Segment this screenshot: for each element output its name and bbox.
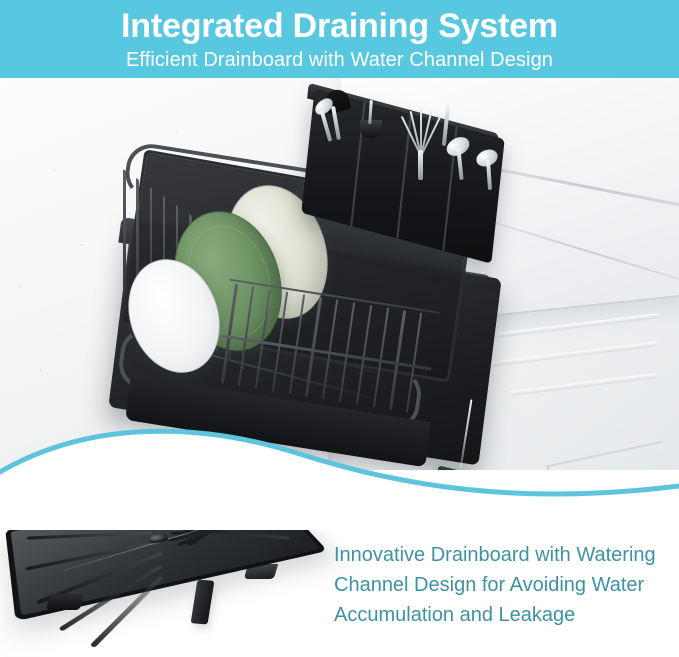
drainboard-product-shot bbox=[8, 458, 338, 643]
drainboard-foot bbox=[46, 594, 85, 610]
hero-photo bbox=[0, 78, 679, 495]
banner-subtitle: Efficient Drainboard with Water Channel … bbox=[126, 47, 553, 73]
feature-caption: Innovative Drainboard with Watering Chan… bbox=[334, 540, 670, 630]
drainboard-spout-icon bbox=[191, 580, 215, 625]
header-banner: Integrated Draining System Efficient Dra… bbox=[0, 0, 679, 78]
dish-rack bbox=[110, 98, 510, 468]
product-feature-image: Integrated Draining System Efficient Dra… bbox=[0, 0, 679, 657]
caption-line-2: Channel Design for Avoiding Water bbox=[334, 570, 670, 600]
whisk-handle bbox=[418, 150, 423, 180]
caption-line-1: Innovative Drainboard with Watering bbox=[334, 540, 670, 570]
banner-title: Integrated Draining System bbox=[121, 5, 558, 47]
drain-hub-icon bbox=[147, 533, 169, 544]
caption-line-3: Accumulation and Leakage bbox=[334, 600, 670, 630]
bottom-panel: Innovative Drainboard with Watering Chan… bbox=[0, 470, 679, 657]
